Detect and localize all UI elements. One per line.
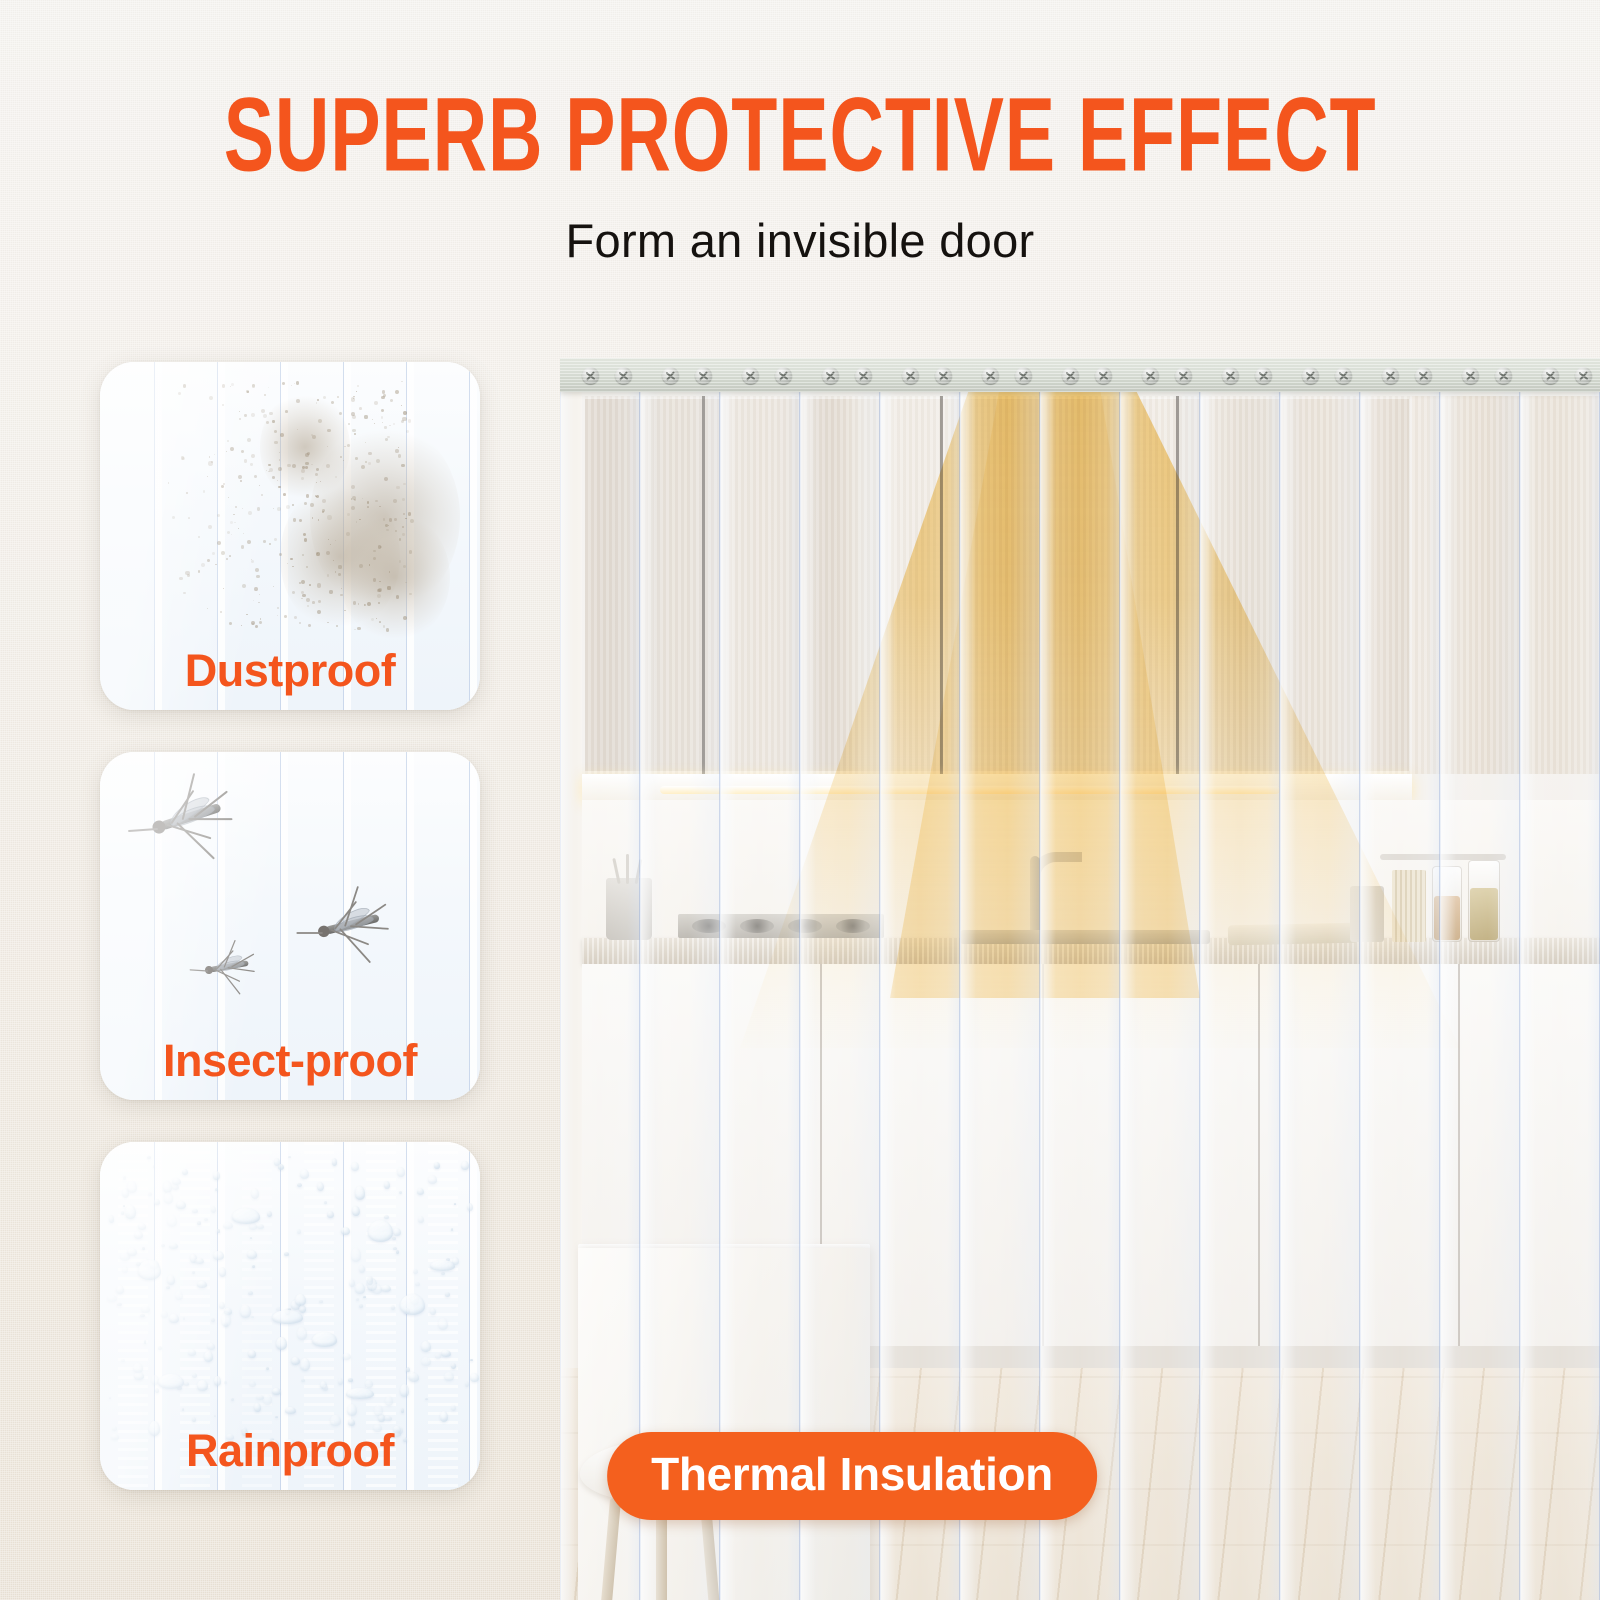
rail-screw [1062,367,1079,384]
rail-screw [1462,367,1479,384]
rail-screw [582,367,599,384]
rail-screw [1255,367,1272,384]
peninsula-block [578,1248,870,1600]
cabinet-seam [1042,964,1044,1346]
rail-screw [1542,367,1559,384]
rail-screw [1302,367,1319,384]
rail-screw [1175,367,1192,384]
feature-card-label: Rainproof [100,1426,480,1476]
rail-screw [615,367,632,384]
rail-screw [742,367,759,384]
pasta-jar [1392,870,1426,942]
kitchen-photo [560,358,1600,1600]
rail-screw [1335,367,1352,384]
cabinet-seam [702,396,705,774]
mounting-rail [560,358,1600,392]
cabinet-seam [1458,964,1460,1346]
cabinet-seam [940,396,943,774]
led-strip-light [660,786,1280,794]
rail-screw [775,367,792,384]
rail-screw [662,367,679,384]
rail-screw [1495,367,1512,384]
thermal-insulation-badge: Thermal Insulation [607,1432,1097,1520]
rail-screw [982,367,999,384]
page-title-text: SUPERB PROTECTIVE EFFECT [224,83,1377,188]
burner [692,919,726,933]
rail-screw [695,367,712,384]
cabinet-wood-grain [1412,396,1600,774]
burner [836,919,870,933]
feature-card-label: Dustproof [100,646,480,696]
rail-screw [1142,367,1159,384]
rail-screw [1222,367,1239,384]
utensil-cup [606,878,652,940]
cabinet-seam [1176,396,1179,774]
gas-cooktop [678,914,884,938]
rail-screw [822,367,839,384]
feature-card-insect-proof[interactable]: Insect-proof [100,752,480,1100]
cabinet-seam [1258,964,1260,1346]
rail-screw [855,367,872,384]
page-subtitle: Form an invisible door [0,212,1600,270]
burner [740,919,774,933]
spice-jar [1468,860,1500,942]
rail-screw [1382,367,1399,384]
kitchen-scene [560,358,1600,1600]
jar-contents [1434,896,1460,940]
feature-card-label: Insect-proof [100,1036,480,1086]
jar-contents [1470,888,1498,940]
burner [788,919,822,933]
sink [960,930,1210,944]
utensil [626,854,629,884]
cabinet-wood-grain [582,396,1412,774]
rail-screw [935,367,952,384]
rail-screw [1015,367,1032,384]
rail-screw [1575,367,1592,384]
feature-card-dustproof[interactable]: Dustproof [100,362,480,710]
upper-cabinets-right [1412,396,1600,774]
cutting-board [1228,923,1358,946]
rail-screw [902,367,919,384]
product-infographic: SUPERB PROTECTIVE EFFECT Form an invisib… [0,0,1600,1600]
utensil-canister [1350,886,1384,942]
rail-screw [1415,367,1432,384]
spice-jar [1432,866,1462,942]
feature-card-rainproof[interactable]: Rainproof [100,1142,480,1490]
upper-cabinets [582,396,1412,774]
page-title: SUPERB PROTECTIVE EFFECT [0,92,1600,178]
rail-screw [1095,367,1112,384]
